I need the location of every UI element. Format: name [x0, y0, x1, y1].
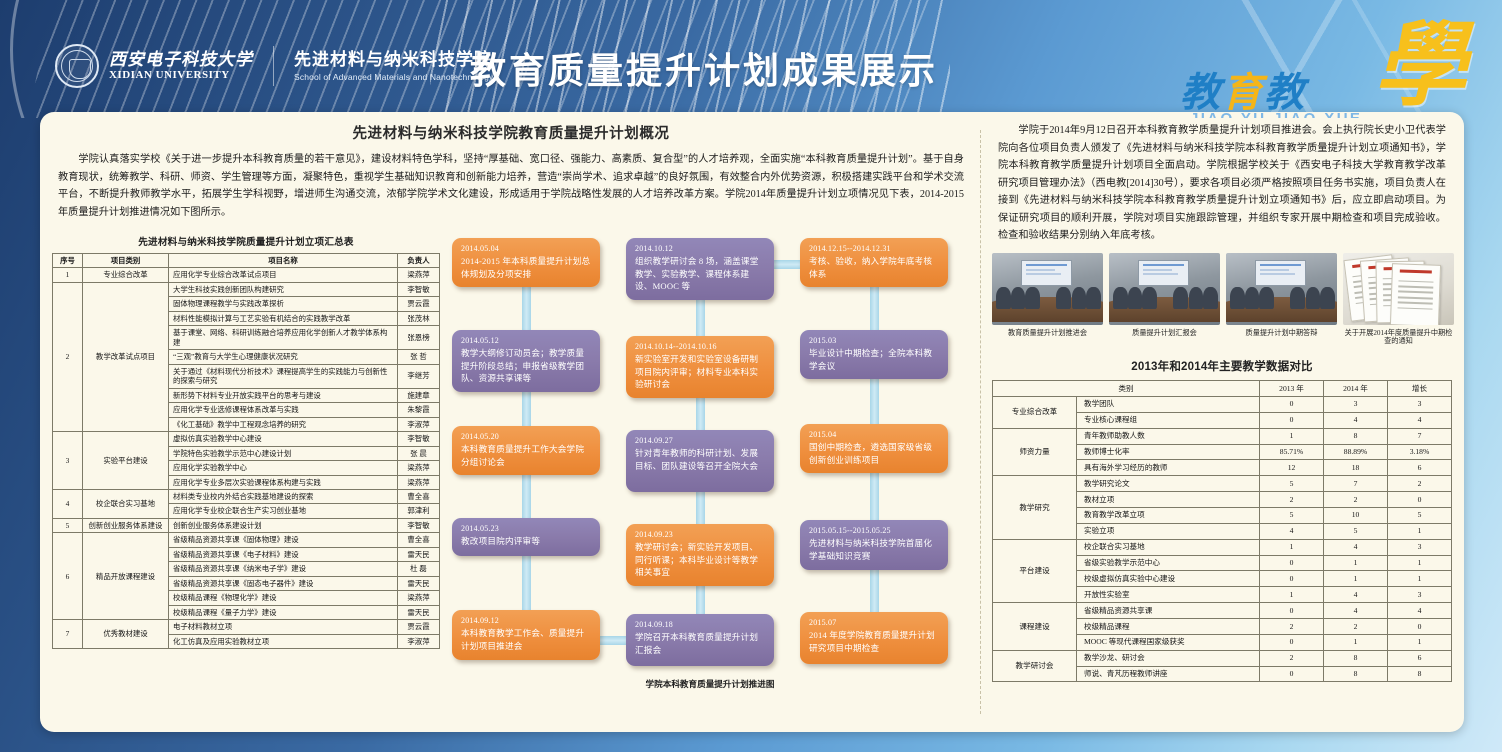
- college-name-en: School of Advanced Materials and Nanotec…: [294, 72, 493, 83]
- timeline-card-date: 2014.10.12: [635, 244, 766, 255]
- person-silhouette: [1306, 287, 1320, 309]
- project-name-cell: “三观”教育与大学生心理健康状况研究: [169, 350, 398, 364]
- project-name-cell: 省级精品资源共享课《固态电子器件》建设: [169, 576, 398, 590]
- project-summary-table: 序号项目类别项目名称负责人 1专业综合改革应用化学专业综合改革试点项目梁燕萍2教…: [52, 253, 440, 649]
- projector-screen: [1138, 260, 1189, 286]
- metric-value-cell: 1: [1388, 523, 1452, 539]
- metric-value-cell: 4: [1260, 523, 1324, 539]
- art-badge-big-char: 學: [1374, 20, 1466, 112]
- person-silhouette: [1173, 287, 1187, 309]
- metric-value-cell: 0: [1388, 492, 1452, 508]
- photo-item: 质量提升计划中期答辩: [1226, 253, 1337, 346]
- metric-value-cell: 1: [1260, 428, 1324, 444]
- document-text-line: [1398, 285, 1434, 288]
- timeline-connector-vertical: [870, 280, 879, 334]
- person-silhouette: [1230, 287, 1244, 309]
- photo-caption: 关于开展2014年度质量提升中期检查的通知: [1343, 329, 1454, 346]
- metric-value-cell: 4: [1388, 603, 1452, 619]
- metric-value-cell: 1: [1388, 571, 1452, 587]
- metric-value-cell: 0: [1260, 396, 1324, 412]
- metric-value-cell: 4: [1324, 587, 1388, 603]
- project-name-cell: 校级精品课程《量子力学》建设: [169, 605, 398, 619]
- timeline-card-date: 2014.09.12: [461, 616, 592, 627]
- art-char-2: 育: [1222, 70, 1264, 115]
- timeline-connector-vertical: [696, 394, 705, 434]
- owner-cell: 贾云霞: [398, 297, 440, 311]
- timeline-card: 2014.05.20本科教育质量提升工作大会学院分组讨论会: [452, 426, 600, 475]
- timeline-card: 2015.072014 年度学院教育质量提升计划研究项目中期检查: [800, 612, 948, 664]
- metric-value-cell: 3: [1388, 587, 1452, 603]
- project-name-cell: 材料类专业校内外结合实践基地建设的探索: [169, 489, 398, 503]
- metric-value-cell: 2: [1260, 492, 1324, 508]
- table-row: 5创新创业服务体系建设创新创业服务体系建设计划李智敏: [53, 518, 440, 532]
- table-row: 1专业综合改革应用化学专业综合改革试点项目梁燕萍: [53, 268, 440, 282]
- metric-value-cell: 5: [1388, 507, 1452, 523]
- row-index-cell: 4: [53, 489, 83, 518]
- metric-name-cell: 教材立项: [1077, 492, 1260, 508]
- metric-value-cell: 4: [1324, 412, 1388, 428]
- person-silhouette: [1290, 287, 1304, 309]
- timeline-card-date: 2015.07: [809, 618, 940, 629]
- metric-value-cell: 10: [1324, 507, 1388, 523]
- table-row: 平台建设校企联合实习基地143: [993, 539, 1452, 555]
- person-silhouette: [1189, 287, 1203, 309]
- projector-screen: [1021, 260, 1072, 286]
- timeline-connector-vertical: [522, 552, 531, 614]
- owner-cell: 张恩榜: [398, 326, 440, 350]
- project-name-cell: 创新创业服务体系建设计划: [169, 518, 398, 532]
- person-silhouette: [1245, 287, 1259, 309]
- project-name-cell: 应用化学专业校企联合生产实习创业基地: [169, 504, 398, 518]
- photo-caption: 质量提升计划中期答辩: [1226, 329, 1337, 338]
- metric-name-cell: 省级实验教学示范中心: [1077, 555, 1260, 571]
- meeting-photo: [992, 253, 1103, 325]
- timeline-card-description: 新实验室开发和实验室设备研制项目院内评审；材料专业本科实验研讨会: [635, 353, 766, 391]
- table-row: 2教学改革试点项目大学生科技实践创新团队构建研究李智敏: [53, 282, 440, 296]
- metric-value-cell: 2: [1260, 619, 1324, 635]
- column-header: 负责人: [398, 254, 440, 268]
- metric-value-cell: 7: [1388, 428, 1452, 444]
- category-cell: 教学改革试点项目: [83, 282, 169, 431]
- category-cell: 教学研讨会: [993, 650, 1077, 682]
- person-silhouette: [1011, 287, 1025, 309]
- timeline-diagram: 2014.05.042014-2015 年本科质量提升计划总体规划及分项安排20…: [450, 234, 970, 704]
- project-name-cell: 校级精品课程《物理化学》建设: [169, 591, 398, 605]
- document-photo: [1343, 253, 1454, 325]
- metric-value-cell: 85.71%: [1260, 444, 1324, 460]
- project-table-wrapper: 先进材料与纳米科技学院质量提升计划立项汇总表 序号项目类别项目名称负责人 1专业…: [52, 234, 440, 649]
- left-section-title: 先进材料与纳米科技学院教育质量提升计划概况: [52, 122, 970, 143]
- project-name-cell: 固体物理课程教学与实践改革探析: [169, 297, 398, 311]
- timeline-card-date: 2015.05.15--2015.05.25: [809, 526, 940, 537]
- project-name-cell: 新形势下材料专业开放实践平台的思考与建设: [169, 388, 398, 402]
- timeline-card-description: 组织教学研讨会 8 场，涵盖课堂教学、实验教学、课程体系建设、MOOC 等: [635, 255, 766, 293]
- metric-value-cell: 4: [1388, 412, 1452, 428]
- table-row: 教学研究教学研究论文572: [993, 476, 1452, 492]
- slide-line: [1143, 269, 1172, 270]
- owner-cell: 朱黎霞: [398, 403, 440, 417]
- project-name-cell: 化工仿真及应用实验教材立项: [169, 634, 398, 648]
- logo-divider: [273, 46, 274, 86]
- metric-value-cell: 3: [1388, 539, 1452, 555]
- metric-name-cell: 教育教学改革立项: [1077, 507, 1260, 523]
- meeting-photo: [1226, 253, 1337, 325]
- page-header: 西安电子科技大学 XIDIAN UNIVERSITY 先进材料与纳米科技学院 S…: [0, 0, 1502, 118]
- timeline-card: 2014.09.18学院召开本科教育质量提升计划汇报会: [626, 614, 774, 666]
- metric-value-cell: 0: [1260, 666, 1324, 682]
- photo-item: 质量提升计划汇报会: [1109, 253, 1220, 346]
- document-sheet: [1390, 263, 1441, 325]
- row-index-cell: 6: [53, 533, 83, 620]
- metric-value-cell: 5: [1260, 507, 1324, 523]
- metric-value-cell: 0: [1260, 412, 1324, 428]
- category-cell: 实验平台建设: [83, 432, 169, 490]
- owner-cell: 施建章: [398, 388, 440, 402]
- project-name-cell: 基于课堂、网络、科研训练融合培养应用化学创新人才教学体系构建: [169, 326, 398, 350]
- owner-cell: 曹全喜: [398, 489, 440, 503]
- column-divider: [980, 130, 981, 714]
- table-header-row: 序号项目类别项目名称负责人: [53, 254, 440, 268]
- slide-line: [1260, 273, 1295, 274]
- category-cell: 课程建设: [993, 603, 1077, 651]
- person-silhouette: [1320, 287, 1334, 309]
- table-row: 课程建设省级精品资源共享课044: [993, 603, 1452, 619]
- metric-value-cell: 3: [1324, 396, 1388, 412]
- timeline-caption: 学院本科教育质量提升计划推进图: [450, 678, 970, 690]
- photo-caption: 教育质量提升计划推进会: [992, 329, 1103, 338]
- column-header: 项目类别: [83, 254, 169, 268]
- project-name-cell: 应用化学专业多层次实验课程体系构建与实践: [169, 475, 398, 489]
- project-name-cell: 材料性能模拟计算与工艺实验有机结合的实践教学改革: [169, 311, 398, 325]
- document-text-line: [1397, 296, 1433, 299]
- category-cell: 优秀教材建设: [83, 620, 169, 649]
- person-silhouette: [1113, 287, 1127, 309]
- timeline-card-date: 2014.05.20: [461, 432, 592, 443]
- metric-value-cell: 3.18%: [1388, 444, 1452, 460]
- owner-cell: 李智敏: [398, 518, 440, 532]
- row-index-cell: 2: [53, 282, 83, 431]
- metric-value-cell: 0: [1260, 634, 1324, 650]
- metric-value-cell: 6: [1388, 460, 1452, 476]
- timeline-connector-vertical: [522, 280, 531, 334]
- category-cell: 校企联合实习基地: [83, 489, 169, 518]
- timeline-card-date: 2014.09.23: [635, 530, 766, 541]
- column-header: 2013 年: [1260, 381, 1324, 397]
- document-title-line: [1399, 269, 1432, 273]
- owner-cell: 郭津利: [398, 504, 440, 518]
- timeline-card-description: 2014 年度学院教育质量提升计划研究项目中期检查: [809, 629, 940, 654]
- university-seal-icon: [55, 44, 99, 88]
- metric-value-cell: 8: [1324, 428, 1388, 444]
- table-row: 教学研讨会教学沙龙、研讨会286: [993, 650, 1452, 666]
- timeline-card-date: 2014.05.12: [461, 336, 592, 347]
- metric-value-cell: 12: [1260, 460, 1324, 476]
- project-name-cell: 应用化学专业综合改革试点项目: [169, 268, 398, 282]
- column-header: 2014 年: [1324, 381, 1388, 397]
- timeline-connector-vertical: [696, 582, 705, 618]
- owner-cell: 李继芳: [398, 364, 440, 388]
- comparison-table-wrapper: 2013年和2014年主要教学数据对比 类别2013 年2014 年增长 专业综…: [992, 358, 1452, 682]
- row-index-cell: 5: [53, 518, 83, 532]
- owner-cell: 雷天民: [398, 547, 440, 561]
- person-silhouette: [1128, 287, 1142, 309]
- projector-screen: [1255, 260, 1306, 286]
- page-title: 教育质量提升计划成果展示: [470, 42, 938, 94]
- timeline-card-date: 2014.09.27: [635, 436, 766, 447]
- content-panel: 先进材料与纳米科技学院教育质量提升计划概况 学院认真落实学校《关于进一步提升本科…: [40, 112, 1464, 732]
- metric-value-cell: 5: [1260, 476, 1324, 492]
- metric-value-cell: 2: [1388, 476, 1452, 492]
- college-name-cn: 先进材料与纳米科技学院: [294, 49, 493, 71]
- project-name-cell: 关于通过《材料现代分析技术》课程提高学生的实践能力与创新性的探索与研究: [169, 364, 398, 388]
- metric-value-cell: 18: [1324, 460, 1388, 476]
- row-index-cell: 7: [53, 620, 83, 649]
- timeline-connector-vertical: [696, 296, 705, 340]
- project-name-cell: 应用化学专业选修课程体系改革与实践: [169, 403, 398, 417]
- timeline-card-description: 考核、验收，纳入学院年底考核体系: [809, 255, 940, 280]
- teaching-data-comparison-table: 类别2013 年2014 年增长 专业综合改革教学团队033专业核心课程组044…: [992, 380, 1452, 682]
- metric-name-cell: 教学研究论文: [1077, 476, 1260, 492]
- timeline-card-description: 教学大纲修订动员会；教学质量提升阶段总结；申报省级教学团队、资源共享课等: [461, 347, 592, 385]
- owner-cell: 杜 磊: [398, 562, 440, 576]
- row-index-cell: 1: [53, 268, 83, 282]
- document-text-line: [1397, 290, 1433, 293]
- metric-value-cell: 2: [1324, 492, 1388, 508]
- timeline-card: 2014.09.27针对青年教师的科研计划、发展目标、团队建设等召开全院大会: [626, 430, 774, 492]
- column-header: 序号: [53, 254, 83, 268]
- photo-caption: 质量提升计划汇报会: [1109, 329, 1220, 338]
- project-name-cell: 省级精品资源共享课《电子材料》建设: [169, 547, 398, 561]
- slide-line: [1026, 269, 1055, 270]
- metric-value-cell: 0: [1388, 619, 1452, 635]
- left-intro-paragraph: 学院认真落实学校《关于进一步提升本科教育质量的若干意见》，建设材料特色学科，坚持…: [52, 151, 970, 221]
- project-name-cell: 省级精品资源共享课《纳米电子学》建设: [169, 562, 398, 576]
- metric-value-cell: 7: [1324, 476, 1388, 492]
- timeline-connector-vertical: [696, 488, 705, 528]
- owner-cell: 张茂林: [398, 311, 440, 325]
- owner-cell: 曹全喜: [398, 533, 440, 547]
- metric-value-cell: 0: [1260, 571, 1324, 587]
- timeline-card-description: 2014-2015 年本科质量提升计划总体规划及分项安排: [461, 255, 592, 280]
- person-silhouette: [1203, 287, 1217, 309]
- owner-cell: 梁燕萍: [398, 461, 440, 475]
- metric-value-cell: 1: [1324, 555, 1388, 571]
- table-row: 师资力量青年教师助教人数187: [993, 428, 1452, 444]
- timeline-card-description: 国创中期检查，遴选国家级省级创新创业训练项目: [809, 441, 940, 466]
- college-names: 先进材料与纳米科技学院 School of Advanced Materials…: [294, 49, 493, 82]
- table-header-row: 类别2013 年2014 年增长: [993, 381, 1452, 397]
- logo-block: 西安电子科技大学 XIDIAN UNIVERSITY 先进材料与纳米科技学院 S…: [55, 44, 493, 88]
- owner-cell: 梁燕萍: [398, 268, 440, 282]
- category-cell: 专业综合改革: [83, 268, 169, 282]
- timeline-card-description: 针对青年教师的科研计划、发展目标、团队建设等召开全院大会: [635, 447, 766, 472]
- metric-name-cell: 省级精品资源共享课: [1077, 603, 1260, 619]
- timeline-card: 2014.10.14--2014.10.16新实验室开发和实验室设备研制项目院内…: [626, 336, 774, 398]
- metric-name-cell: 校级虚拟仿真实验中心建设: [1077, 571, 1260, 587]
- timeline-card-date: 2014.12.15--2014.12.31: [809, 244, 940, 255]
- meeting-photo: [1109, 253, 1220, 325]
- category-cell: 师资力量: [993, 428, 1077, 476]
- timeline-card-date: 2014.05.23: [461, 524, 592, 535]
- table-body: 专业综合改革教学团队033专业核心课程组044师资力量青年教师助教人数187教师…: [993, 396, 1452, 681]
- timeline-card-date: 2014.09.18: [635, 620, 766, 631]
- document-text-line: [1397, 307, 1433, 310]
- metric-value-cell: 0: [1260, 603, 1324, 619]
- timeline-card: 2015.04国创中期检查，遴选国家级省级创新创业训练项目: [800, 424, 948, 473]
- timeline-card: 2014.05.12教学大纲修订动员会；教学质量提升阶段总结；申报省级教学团队、…: [452, 330, 600, 392]
- table-body: 1专业综合改革应用化学专业综合改革试点项目梁燕萍2教学改革试点项目大学生科技实践…: [53, 268, 440, 649]
- metric-value-cell: 2: [1260, 650, 1324, 666]
- timeline-card: 2015.05.15--2015.05.25先进材料与纳米科技学院首届化学基础知…: [800, 520, 948, 570]
- category-cell: 创新创业服务体系建设: [83, 518, 169, 532]
- metric-value-cell: 1: [1324, 634, 1388, 650]
- timeline-card-date: 2014.10.14--2014.10.16: [635, 342, 766, 353]
- person-silhouette: [1086, 287, 1100, 309]
- owner-cell: 李智敏: [398, 282, 440, 296]
- category-cell: 教学研究: [993, 476, 1077, 539]
- timeline-card-date: 2015.03: [809, 336, 940, 347]
- metric-name-cell: 教师博士化率: [1077, 444, 1260, 460]
- metric-name-cell: 教学团队: [1077, 396, 1260, 412]
- timeline-card-description: 本科教育教学工作会、质量提升计划项目推进会: [461, 627, 592, 652]
- timeline-card-date: 2015.04: [809, 430, 940, 441]
- university-name-cn: 西安电子科技大学: [109, 50, 253, 70]
- metric-name-cell: 专业核心课程组: [1077, 412, 1260, 428]
- university-names: 西安电子科技大学 XIDIAN UNIVERSITY: [109, 50, 253, 82]
- row-index-cell: 3: [53, 432, 83, 490]
- comparison-table-caption: 2013年和2014年主要教学数据对比: [992, 358, 1452, 374]
- art-badge: 學 教育教 JIAO YU JIAO XUE: [1162, 18, 1492, 118]
- column-header: 项目名称: [169, 254, 398, 268]
- metric-value-cell: 8: [1324, 650, 1388, 666]
- project-name-cell: 《化工基础》教学中工程观念培养的研究: [169, 417, 398, 431]
- table-row: 6精品开放课程建设省级精品资源共享课《固体物理》建设曹全喜: [53, 533, 440, 547]
- project-table-caption: 先进材料与纳米科技学院质量提升计划立项汇总表: [52, 234, 440, 248]
- metric-name-cell: 具有海外学习经历的教师: [1077, 460, 1260, 476]
- timeline-card-description: 毕业设计中期检查；全院本科教学会议: [809, 347, 940, 372]
- timeline-connector-vertical: [870, 374, 879, 428]
- metric-value-cell: 3: [1388, 396, 1452, 412]
- left-column: 先进材料与纳米科技学院教育质量提升计划概况 学院认真落实学校《关于进一步提升本科…: [52, 122, 970, 221]
- timeline-card: 2014.05.042014-2015 年本科质量提升计划总体规划及分项安排: [452, 238, 600, 287]
- category-cell: 精品开放课程建设: [83, 533, 169, 620]
- owner-cell: 李智敏: [398, 432, 440, 446]
- timeline-connector-vertical: [522, 468, 531, 522]
- metric-name-cell: 校企联合实习基地: [1077, 539, 1260, 555]
- person-silhouette: [1056, 287, 1070, 309]
- column-header: 增长: [1388, 381, 1452, 397]
- project-name-cell: 大学生科技实践创新团队构建研究: [169, 282, 398, 296]
- timeline-card: 2014.12.15--2014.12.31考核、验收，纳入学院年底考核体系: [800, 238, 948, 287]
- person-silhouette: [1025, 287, 1039, 309]
- table-row: 专业综合改革教学团队033: [993, 396, 1452, 412]
- timeline-card: 2014.09.23教学研讨会；新实验开发项目、同行听课；本科毕业设计等教学相关…: [626, 524, 774, 586]
- slide-line: [1026, 264, 1067, 266]
- timeline-card-date: 2014.05.04: [461, 244, 592, 255]
- owner-cell: 雷天民: [398, 605, 440, 619]
- metric-value-cell: 88.89%: [1324, 444, 1388, 460]
- metric-name-cell: 青年教师助教人数: [1077, 428, 1260, 444]
- table-row: 4校企联合实习基地材料类专业校内外结合实践基地建设的探索曹全喜: [53, 489, 440, 503]
- timeline-card-description: 学院召开本科教育质量提升计划汇报会: [635, 631, 766, 656]
- person-silhouette: [1142, 287, 1156, 309]
- timeline-connector-vertical: [870, 468, 879, 524]
- art-char-3: 教: [1264, 70, 1306, 115]
- document-text-line: [1398, 280, 1434, 283]
- left-lower-area: 先进材料与纳米科技学院质量提升计划立项汇总表 序号项目类别项目名称负责人 1专业…: [52, 234, 970, 724]
- person-silhouette: [996, 287, 1010, 309]
- slide-line: [1260, 269, 1289, 270]
- slide-line: [1143, 273, 1178, 274]
- metric-value-cell: 1: [1388, 555, 1452, 571]
- owner-cell: 李淑萍: [398, 634, 440, 648]
- photo-item: 关于开展2014年度质量提升中期检查的通知: [1343, 253, 1454, 346]
- timeline-card-description: 本科教育质量提升工作大会学院分组讨论会: [461, 443, 592, 468]
- owner-cell: 李淑萍: [398, 417, 440, 431]
- art-badge-pinyin: JIAO YU JIAO XUE: [1190, 110, 1362, 118]
- project-name-cell: 虚拟仿真实验教学中心建设: [169, 432, 398, 446]
- column-header: 类别: [993, 381, 1260, 397]
- metric-value-cell: 1: [1260, 587, 1324, 603]
- owner-cell: 梁燕萍: [398, 591, 440, 605]
- metric-value-cell: 2: [1324, 619, 1388, 635]
- project-name-cell: 学院特色实验教学示范中心建设计划: [169, 446, 398, 460]
- metric-name-cell: MOOC 等现代课程国家级获奖: [1077, 634, 1260, 650]
- university-name-en: XIDIAN UNIVERSITY: [109, 69, 253, 82]
- timeline-card: 2014.05.23教改项目院内评审等: [452, 518, 600, 556]
- owner-cell: 张 哲: [398, 350, 440, 364]
- metric-value-cell: 1: [1388, 634, 1452, 650]
- slide-line: [1260, 264, 1301, 266]
- metric-value-cell: 1: [1260, 539, 1324, 555]
- project-name-cell: 省级精品资源共享课《固体物理》建设: [169, 533, 398, 547]
- project-name-cell: 应用化学实验教学中心: [169, 461, 398, 475]
- timeline-card-description: 教学研讨会；新实验开发项目、同行听课；本科毕业设计等教学相关事宜: [635, 541, 766, 579]
- metric-value-cell: 0: [1260, 555, 1324, 571]
- metric-name-cell: 师说、青芃历程教师讲座: [1077, 666, 1260, 682]
- document-text-line: [1397, 301, 1433, 304]
- project-name-cell: 电子材料教材立项: [169, 620, 398, 634]
- metric-name-cell: 教学沙龙、研讨会: [1077, 650, 1260, 666]
- metric-name-cell: 实验立项: [1077, 523, 1260, 539]
- metric-value-cell: 6: [1388, 650, 1452, 666]
- timeline-connector-vertical: [870, 566, 879, 616]
- category-cell: 平台建设: [993, 539, 1077, 602]
- metric-value-cell: 8: [1388, 666, 1452, 682]
- timeline-card-description: 先进材料与纳米科技学院首届化学基础知识竞赛: [809, 537, 940, 562]
- metric-value-cell: 4: [1324, 539, 1388, 555]
- person-silhouette: [1259, 287, 1273, 309]
- metric-value-cell: 8: [1324, 666, 1388, 682]
- metric-value-cell: 4: [1324, 603, 1388, 619]
- photo-gallery: 教育质量提升计划推进会质量提升计划汇报会质量提升计划中期答辩关于开展2014年度…: [992, 253, 1452, 346]
- slide-line: [1026, 273, 1061, 274]
- category-cell: 专业综合改革: [993, 396, 1077, 428]
- photo-item: 教育质量提升计划推进会: [992, 253, 1103, 346]
- timeline-card: 2015.03毕业设计中期检查；全院本科教学会议: [800, 330, 948, 379]
- timeline-card: 2014.09.12本科教育教学工作会、质量提升计划项目推进会: [452, 610, 600, 660]
- timeline-card: 2014.10.12组织教学研讨会 8 场，涵盖课堂教学、实验教学、课程体系建设…: [626, 238, 774, 300]
- person-silhouette: [1072, 287, 1086, 309]
- owner-cell: 张 晨: [398, 446, 440, 460]
- metric-name-cell: 开放性实验室: [1077, 587, 1260, 603]
- timeline-card-description: 教改项目院内评审等: [461, 535, 592, 548]
- art-char-1: 教: [1180, 70, 1222, 115]
- slide-line: [1143, 264, 1184, 266]
- right-intro-paragraph: 学院于2014年9月12日召开本科教育教学质量提升计划项目推进会。会上执行院长史…: [992, 122, 1452, 245]
- metric-value-cell: 1: [1324, 571, 1388, 587]
- metric-name-cell: 校级精品课程: [1077, 619, 1260, 635]
